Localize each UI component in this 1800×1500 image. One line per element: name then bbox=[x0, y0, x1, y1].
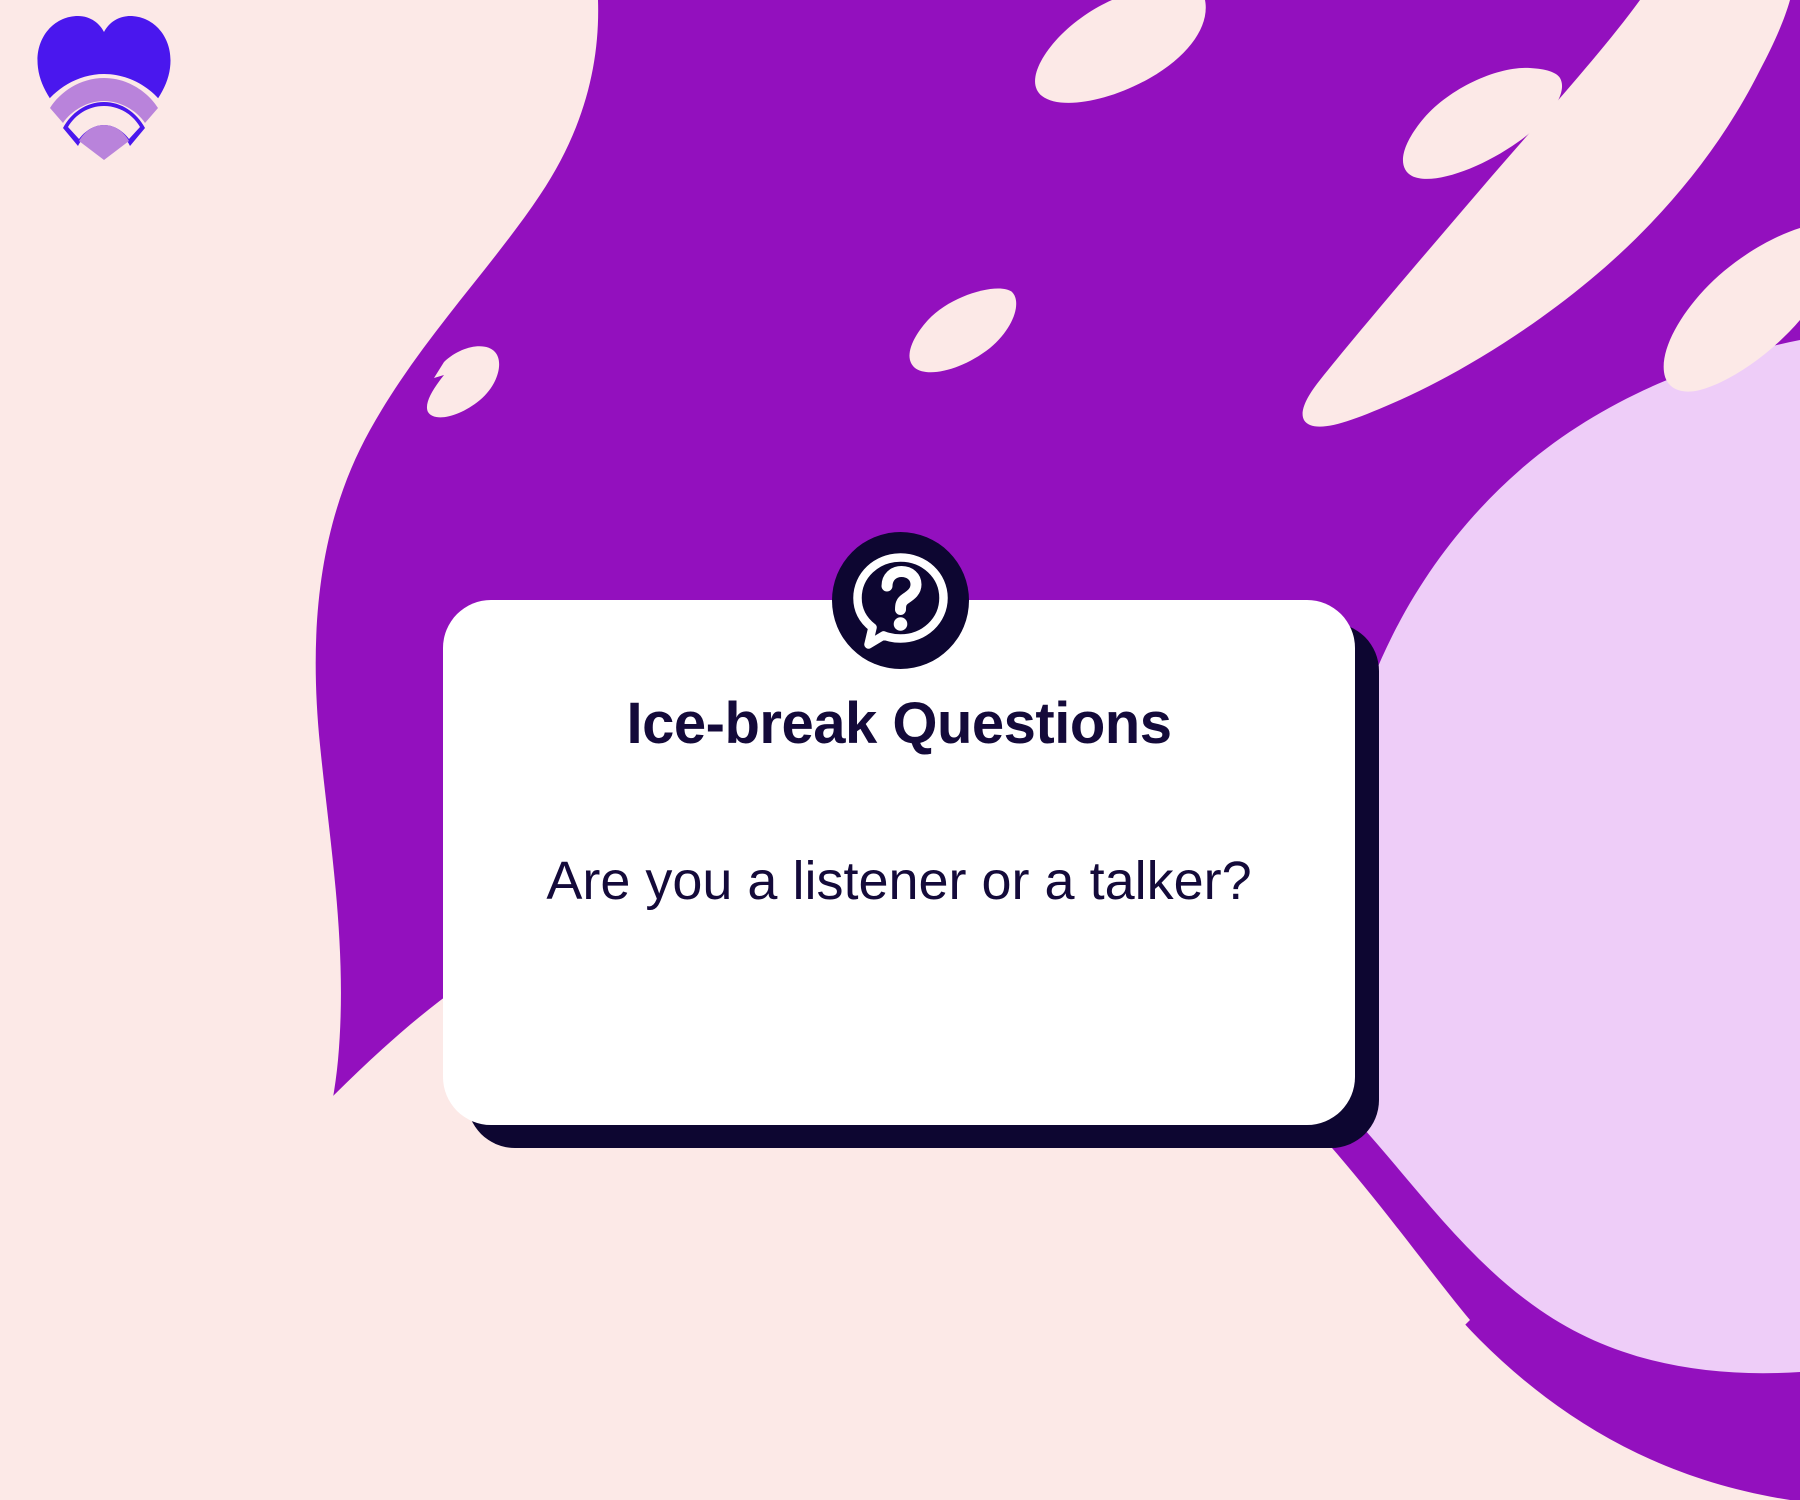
card-surface: Ice-break Questions Are you a listener o… bbox=[443, 600, 1355, 1125]
poster-canvas: Ice-break Questions Are you a listener o… bbox=[0, 0, 1800, 1500]
card-question-text: Are you a listener or a talker? bbox=[546, 848, 1251, 916]
question-card: Ice-break Questions Are you a listener o… bbox=[443, 600, 1355, 1125]
page-title: Ice-break Questions bbox=[627, 692, 1172, 756]
heart-wifi-logo bbox=[34, 10, 174, 160]
question-speech-bubble-icon bbox=[832, 532, 969, 669]
question-mark-dot bbox=[894, 617, 908, 631]
